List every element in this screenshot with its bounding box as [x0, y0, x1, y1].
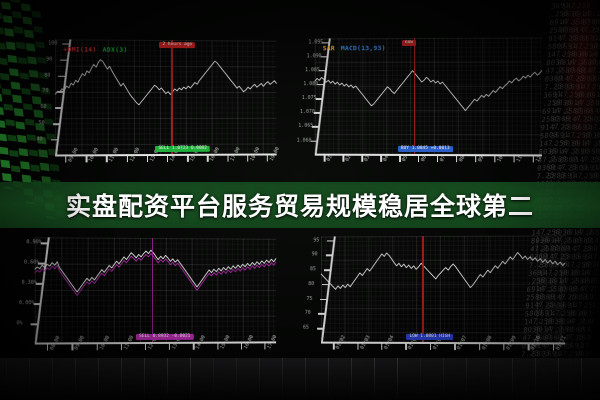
floor-streak — [259, 358, 260, 400]
legend-entry[interactable]: +DMI(14) — [63, 45, 96, 53]
axis-value-badge: SELL 1.0723 0.0002 — [155, 146, 210, 152]
floor-streak — [512, 358, 513, 400]
floor-streak — [6, 358, 7, 400]
plot-area: 1.0951.0901.0851.0801.0751.0701.0651.060… — [293, 31, 548, 174]
screenshot-root: 0369 7.25 3691 .258 6914 2580 9147 5803 … — [0, 0, 600, 400]
reflection-floor — [0, 358, 600, 400]
axis-value-badge: LOW 1.0801 HIGH — [407, 334, 454, 340]
series-layer — [12, 231, 282, 363]
floor-streak — [305, 358, 306, 400]
chart-panel-bottom-right[interactable]: 9590858075706501/0201/0301/0401/0501/060… — [299, 229, 571, 362]
floor-streak — [558, 358, 559, 400]
chart-legend: SARMACD(13,93) — [323, 44, 392, 52]
floor-streak — [466, 358, 467, 400]
page-title: 实盘配资平台服务贸易规模稳居全球第二 — [66, 187, 534, 223]
legend-entry[interactable]: SAR — [323, 44, 335, 52]
floor-streak — [121, 358, 122, 400]
legend-entry[interactable]: ADX(3) — [103, 46, 128, 54]
title-banner: 实盘配资平台服务贸易规模稳居全球第二 — [0, 182, 600, 228]
series-line — [35, 253, 276, 295]
floor-streak — [535, 358, 536, 400]
marker-badge: now — [402, 40, 416, 46]
floor-streak — [167, 358, 168, 400]
series-layer — [299, 229, 571, 362]
floor-streak — [489, 358, 490, 400]
series-layer — [33, 33, 283, 175]
floor-streak — [190, 358, 191, 400]
floor-streak — [282, 358, 283, 400]
crosshair-vertical-line — [414, 38, 415, 154]
series-layer — [293, 31, 548, 174]
floor-streak — [351, 358, 352, 400]
floor-streak — [443, 358, 444, 400]
plot-area: 9590858075706501/0201/0301/0401/0501/060… — [299, 229, 571, 362]
series-line — [55, 59, 277, 104]
chart-panel-top-left[interactable]: 10090807060504009:0010:0011:0012:0013:00… — [33, 33, 283, 175]
floor-streak — [98, 358, 99, 400]
legend-entry[interactable]: MACD(13,93) — [341, 44, 386, 52]
floor-streak — [397, 358, 398, 400]
floor-streak — [75, 358, 76, 400]
chart-panel-bottom-left[interactable]: 0.90%0.60%0.30%0.00%0%08:0009:0010:0011:… — [12, 231, 282, 363]
floor-streak — [213, 358, 214, 400]
plot-area: 0.90%0.60%0.30%0.00%0%08:0009:0010:0011:… — [12, 231, 282, 363]
series-line — [315, 70, 542, 110]
floor-streak — [581, 358, 582, 400]
floor-streak — [328, 358, 329, 400]
floor-streak — [52, 358, 53, 400]
marker-badge: 2 hours ago — [159, 42, 195, 48]
floor-streak — [29, 358, 30, 400]
chart-panel-top-right[interactable]: 1.0951.0901.0851.0801.0751.0701.0651.060… — [293, 31, 548, 174]
crosshair-vertical-line — [422, 236, 423, 342]
crosshair-vertical-line — [171, 40, 172, 154]
floor-streak — [420, 358, 421, 400]
plot-area: 10090807060504009:0010:0011:0012:0013:00… — [33, 33, 283, 175]
crosshair-vertical-line — [152, 238, 153, 342]
series-line — [321, 252, 565, 289]
floor-streak — [374, 358, 375, 400]
axis-value-badge: BUY 1.0845 +0.0013 — [398, 146, 453, 152]
axis-value-badge: SELL 0.8932 -0.0021 — [136, 334, 193, 340]
floor-streak — [144, 358, 145, 400]
floor-streak — [236, 358, 237, 400]
chart-legend: +DMI(14)ADX(3) — [63, 45, 133, 53]
